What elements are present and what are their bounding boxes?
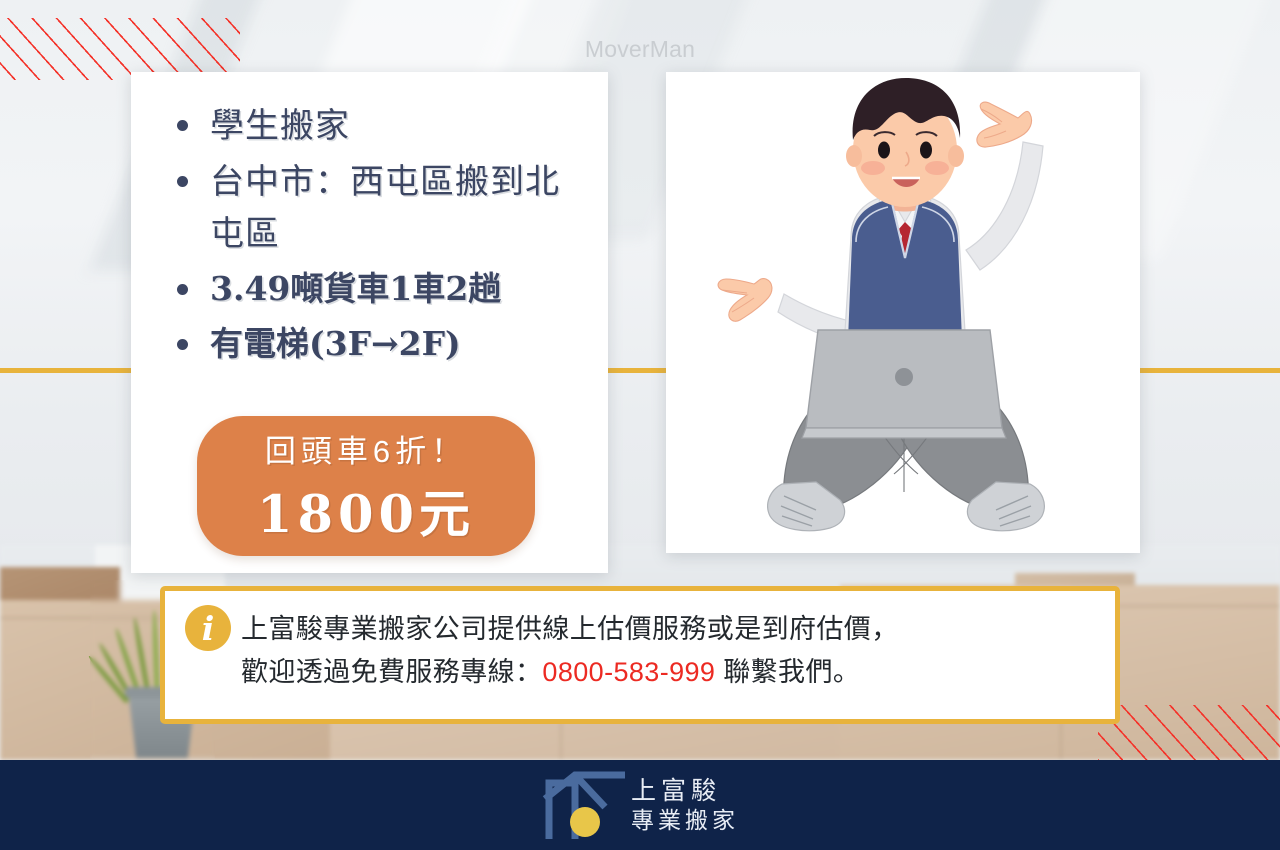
raised-arm-sleeve [966, 142, 1043, 270]
price-badge: 回頭車6折！ 1800元 [197, 416, 535, 556]
footer-bar: 上富駿 專業搬家 [0, 760, 1280, 850]
eye-right [920, 142, 932, 159]
pointing-hand-up [977, 102, 1032, 147]
info-notice-box: i 上富駿專業搬家公司提供線上估價服務或是到府估價， 歡迎透過免費服務專線：08… [160, 586, 1120, 724]
list-item-label: 3.49噸貨車1車2趟 [210, 264, 501, 314]
list-item: 台中市：西屯區搬到北屯區 [177, 156, 587, 260]
phone-number[interactable]: 0800-583-999 [542, 657, 715, 687]
ear-right [948, 145, 964, 167]
price-badge-amount: 1800元 [257, 473, 475, 547]
brand-name-line-1: 上富駿 [631, 776, 739, 807]
illustration-card [666, 72, 1140, 553]
list-item-label: 台中市：西屯區搬到北屯區 [210, 156, 587, 260]
bullet-dot-icon [177, 339, 188, 350]
illustration-figure [718, 78, 1044, 531]
diagonal-stripes-bottom-right [1098, 705, 1280, 761]
house-roof-logo-icon [541, 767, 627, 843]
bullet-dot-icon [177, 284, 188, 295]
details-bullet-list: 學生搬家 台中市：西屯區搬到北屯區 3.49噸貨車1車2趟 有電梯(3F→2F) [177, 100, 587, 373]
brand-name-line-2: 專業搬家 [631, 806, 739, 834]
info-notice-line-2-prefix: 歡迎透過免費服務專線： [241, 657, 542, 687]
info-notice-text: 上富駿專業搬家公司提供線上估價服務或是到府估價， 歡迎透過免費服務專線：0800… [241, 591, 899, 693]
list-item: 學生搬家 [177, 100, 587, 152]
info-icon: i [185, 605, 231, 651]
details-card: 學生搬家 台中市：西屯區搬到北屯區 3.49噸貨車1車2趟 有電梯(3F→2F)… [131, 72, 608, 573]
list-item-label: 學生搬家 [210, 100, 350, 152]
watermark-text: MoverMan [0, 36, 1280, 63]
list-item-label: 有電梯(3F→2F) [210, 319, 461, 369]
ear-left [846, 145, 862, 167]
bullet-dot-icon [177, 176, 188, 187]
list-item: 有電梯(3F→2F) [177, 319, 587, 369]
price-badge-headline: 回頭車6折！ [265, 426, 467, 471]
logo-accent-dot [570, 807, 600, 837]
laptop-logo-icon [895, 368, 913, 386]
cheek-left [861, 161, 885, 175]
info-notice-line-1: 上富駿專業搬家公司提供線上估價服務或是到府估價， [241, 608, 899, 651]
list-item: 3.49噸貨車1車2趟 [177, 264, 587, 314]
brand-logo: 上富駿 專業搬家 [541, 767, 739, 843]
eye-left [878, 142, 890, 159]
bullet-dot-icon [177, 120, 188, 131]
info-notice-line-2: 歡迎透過免費服務專線：0800-583-999 聯繫我們。 [241, 651, 899, 694]
brand-name: 上富駿 專業搬家 [631, 776, 739, 835]
info-notice-line-2-suffix: 聯繫我們。 [715, 657, 860, 687]
pointing-hand-left [718, 279, 772, 322]
laptop-base [802, 428, 1006, 438]
cheek-right [925, 161, 949, 175]
student-with-laptop-illustration [666, 72, 1140, 553]
